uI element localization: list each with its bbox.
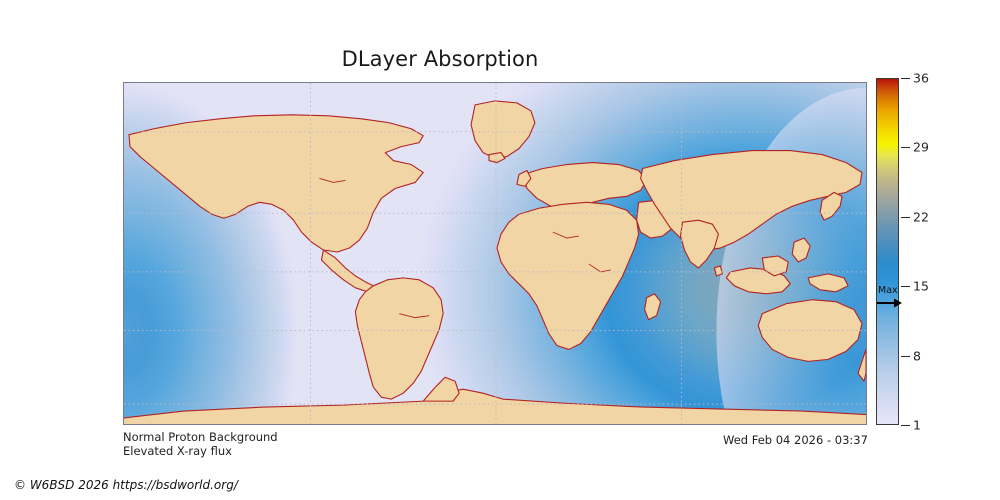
colorbar-tick (901, 425, 910, 426)
colorbar-tick (901, 78, 910, 79)
colorbar-tick-label: 8 (913, 348, 921, 363)
page-title: DLayer Absorption (0, 47, 880, 71)
colorbar-axis-label: Affected Frequency (MHz) (932, 78, 1000, 425)
colorbar-tick (901, 286, 910, 287)
colorbar-tick-label: 36 (913, 71, 929, 86)
land-sri-lanka (714, 266, 722, 276)
world-map-svg (124, 83, 866, 424)
copyright-notice: © W6BSD 2026 https://bsdworld.org/ (14, 478, 238, 492)
map-axes[interactable] (123, 82, 867, 425)
colorbar[interactable] (876, 78, 899, 425)
colorbar-tick (901, 356, 910, 357)
colorbar-tick (901, 217, 910, 218)
figure-canvas: DLayer Absorption (0, 0, 1000, 500)
colorbar-tick-label: 1 (913, 418, 921, 433)
colorbar-tick-label: 15 (913, 279, 929, 294)
status-proton-background: Normal Proton Background (123, 430, 278, 444)
colorbar-tick-label: 22 (913, 209, 929, 224)
map-plot-area (124, 83, 866, 424)
colorbar-gradient (877, 79, 898, 424)
status-xray-flux: Elevated X-ray flux (123, 444, 232, 458)
colorbar-tick (901, 147, 910, 148)
timestamp: Wed Feb 04 2026 - 03:37 (723, 433, 868, 447)
colorbar-tick-label: 29 (913, 140, 929, 155)
